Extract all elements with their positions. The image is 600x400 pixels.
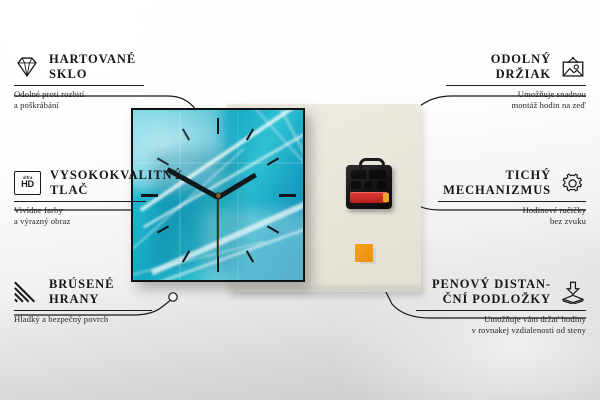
feature-foam-spacers: PENOVÝ DISTAN- ČNÍ PODLOŽKY Umožňuje vám… xyxy=(406,277,586,335)
feature-title-line1: PENOVÝ DISTAN- xyxy=(432,277,551,292)
clock-mechanism xyxy=(346,165,392,209)
ultra-hd-icon-main: HD xyxy=(21,180,34,189)
feature-title-line2: DRŽIAK xyxy=(491,67,551,82)
battery-terminal xyxy=(383,193,389,202)
clock-tick xyxy=(279,194,296,197)
feature-title-line2: HRANY xyxy=(49,292,114,307)
clock-tick xyxy=(217,256,219,272)
feature-title-line1: HARTOVANÉ xyxy=(49,52,136,67)
feature-desc-print-2: a výrazný obraz xyxy=(14,216,174,227)
feature-desc-line2: a poškrábání xyxy=(14,100,164,111)
clock-center-pin xyxy=(216,193,221,198)
product-photo xyxy=(131,104,421,300)
clock-tick xyxy=(217,118,219,134)
feature-divider xyxy=(438,201,586,202)
ultra-hd-icon: ultra HD xyxy=(14,171,41,195)
diamond-icon xyxy=(14,55,40,79)
feature-silent-mechanism: TICHÝ MECHANIZMUS Hodinové ručičky bez z… xyxy=(426,168,586,226)
wall-shadow xyxy=(231,286,423,298)
feature-title-line1: ODOLNÝ xyxy=(491,52,551,67)
feature-divider xyxy=(14,85,144,86)
feature-desc-line1: Umožňuje snadnou xyxy=(436,89,586,100)
feature-desc-line1: Hodinové ručičky xyxy=(426,205,586,216)
feature-title-line2: MECHANIZMUS xyxy=(443,183,551,198)
clock-second-hand xyxy=(217,196,219,258)
feature-desc-line2: montáž hodin na zeď xyxy=(436,100,586,111)
feature-title-line2: SKLO xyxy=(49,67,136,82)
feature-title-line1: TICHÝ xyxy=(443,168,551,183)
battery xyxy=(350,192,388,203)
feature-title-line2: TLAČ xyxy=(50,183,183,198)
feature-desc-line1: Odolné proti rozbití xyxy=(14,89,164,100)
product-infographic: HARTOVANÉ SKLO Odolné proti rozbití a po… xyxy=(0,0,600,400)
feature-divider xyxy=(14,310,152,311)
feature-desc-line2: bez zvuku xyxy=(426,216,586,227)
feature-durable-hanger: ODOLNÝ DRŽIAK Umožňuje snadnou montáž ho… xyxy=(436,52,586,110)
hatched-triangle-icon xyxy=(14,280,40,304)
feature-desc-line1: Hladký a bezpečný povrch xyxy=(14,314,174,325)
feature-title-line1: BRÚSENÉ xyxy=(49,277,114,292)
feature-desc-print-1: Vivídne farby xyxy=(14,205,174,216)
picture-frame-hanger-icon xyxy=(560,55,586,79)
feature-divider xyxy=(14,201,146,202)
feature-desc-line1: Umožňuje vám držať hodiny xyxy=(406,314,586,325)
foam-spacer-pad xyxy=(355,244,373,262)
feature-tempered-glass: HARTOVANÉ SKLO Odolné proti rozbití a po… xyxy=(14,52,164,110)
feature-divider xyxy=(416,310,586,311)
feature-title-line2: ČNÍ PODLOŽKY xyxy=(432,292,551,307)
feature-title-line1: VYSOKOKVALITNÝ xyxy=(50,168,183,183)
gear-icon xyxy=(560,171,586,195)
feature-high-quality-print: ultra HD VYSOKOKVALITNÝ TLAČ Hladký a be… xyxy=(14,168,174,226)
feature-ground-edges: BRÚSENÉ HRANY Hladký a bezpečný povrch xyxy=(14,277,174,325)
feature-desc-line2: v rovnakej vzdialenosti od steny xyxy=(406,325,586,336)
arrow-down-onto-pad-icon xyxy=(560,280,586,304)
feature-divider xyxy=(446,85,586,86)
